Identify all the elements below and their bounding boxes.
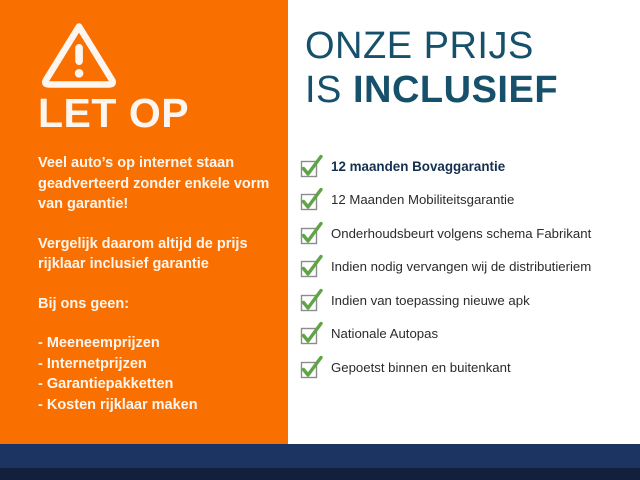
price-heading: ONZE PRIJS IS INCLUSIEF (305, 24, 558, 112)
feature-label: Nationale Autopas (331, 326, 438, 342)
checkbox-checked-icon (298, 254, 324, 280)
list-item: Nationale Autopas (298, 318, 640, 352)
warning-panel: LET OP Veel auto’s op internet staan gea… (0, 0, 288, 444)
exclusions-list: - Meeneemprijzen - Internetprijzen - Gar… (38, 333, 278, 415)
checkbox-checked-icon (298, 355, 324, 381)
warning-paragraph-3: Bij ons geen: (38, 294, 278, 315)
warning-paragraph-2: Vergelijk daarom altijd de prijs rijklaa… (38, 234, 278, 275)
list-item: Indien nodig vervangen wij de distributi… (298, 251, 640, 285)
footer-bar-shadow (0, 468, 640, 480)
list-item: Indien van toepassing nieuwe apk (298, 284, 640, 318)
page-title: LET OP (38, 90, 189, 136)
inclusive-price-panel: ONZE PRIJS IS INCLUSIEF 12 maanden Bovag… (288, 0, 640, 444)
feature-label: 12 maanden Bovaggarantie (331, 159, 505, 175)
feature-label: Indien nodig vervangen wij de distributi… (331, 259, 591, 275)
warning-triangle-icon (40, 20, 118, 88)
list-item: Gepoetst binnen en buitenkant (298, 351, 640, 385)
warning-body-text: Veel auto’s op internet staan geadvertee… (38, 153, 278, 415)
price-heading-emphasis: INCLUSIEF (353, 69, 558, 111)
feature-label: Indien van toepassing nieuwe apk (331, 293, 530, 309)
list-item: - Internetprijzen (38, 354, 278, 375)
feature-label: Gepoetst binnen en buitenkant (331, 360, 511, 376)
feature-label: Onderhoudsbeurt volgens schema Fabrikant (331, 226, 591, 242)
list-item: Onderhoudsbeurt volgens schema Fabrikant (298, 217, 640, 251)
checkbox-checked-icon (298, 154, 324, 180)
included-features-list: 12 maanden Bovaggarantie 12 Maanden Mobi… (298, 150, 640, 385)
price-heading-line-1: ONZE PRIJS (305, 24, 558, 68)
checkbox-checked-icon (298, 288, 324, 314)
footer-bar (0, 444, 640, 468)
feature-label: 12 Maanden Mobiliteitsgarantie (331, 192, 514, 208)
price-heading-line-2: IS INCLUSIEF (305, 68, 558, 112)
list-item: - Garantiepakketten (38, 374, 278, 395)
promo-banner: LET OP Veel auto’s op internet staan gea… (0, 0, 640, 480)
checkbox-checked-icon (298, 321, 324, 347)
checkbox-checked-icon (298, 221, 324, 247)
list-item: - Kosten rijklaar maken (38, 395, 278, 416)
list-item: 12 maanden Bovaggarantie (298, 150, 640, 184)
warning-paragraph-1: Veel auto’s op internet staan geadvertee… (38, 153, 278, 215)
list-item: - Meeneemprijzen (38, 333, 278, 354)
price-heading-prefix: IS (305, 69, 353, 111)
checkbox-checked-icon (298, 187, 324, 213)
list-item: 12 Maanden Mobiliteitsgarantie (298, 184, 640, 218)
